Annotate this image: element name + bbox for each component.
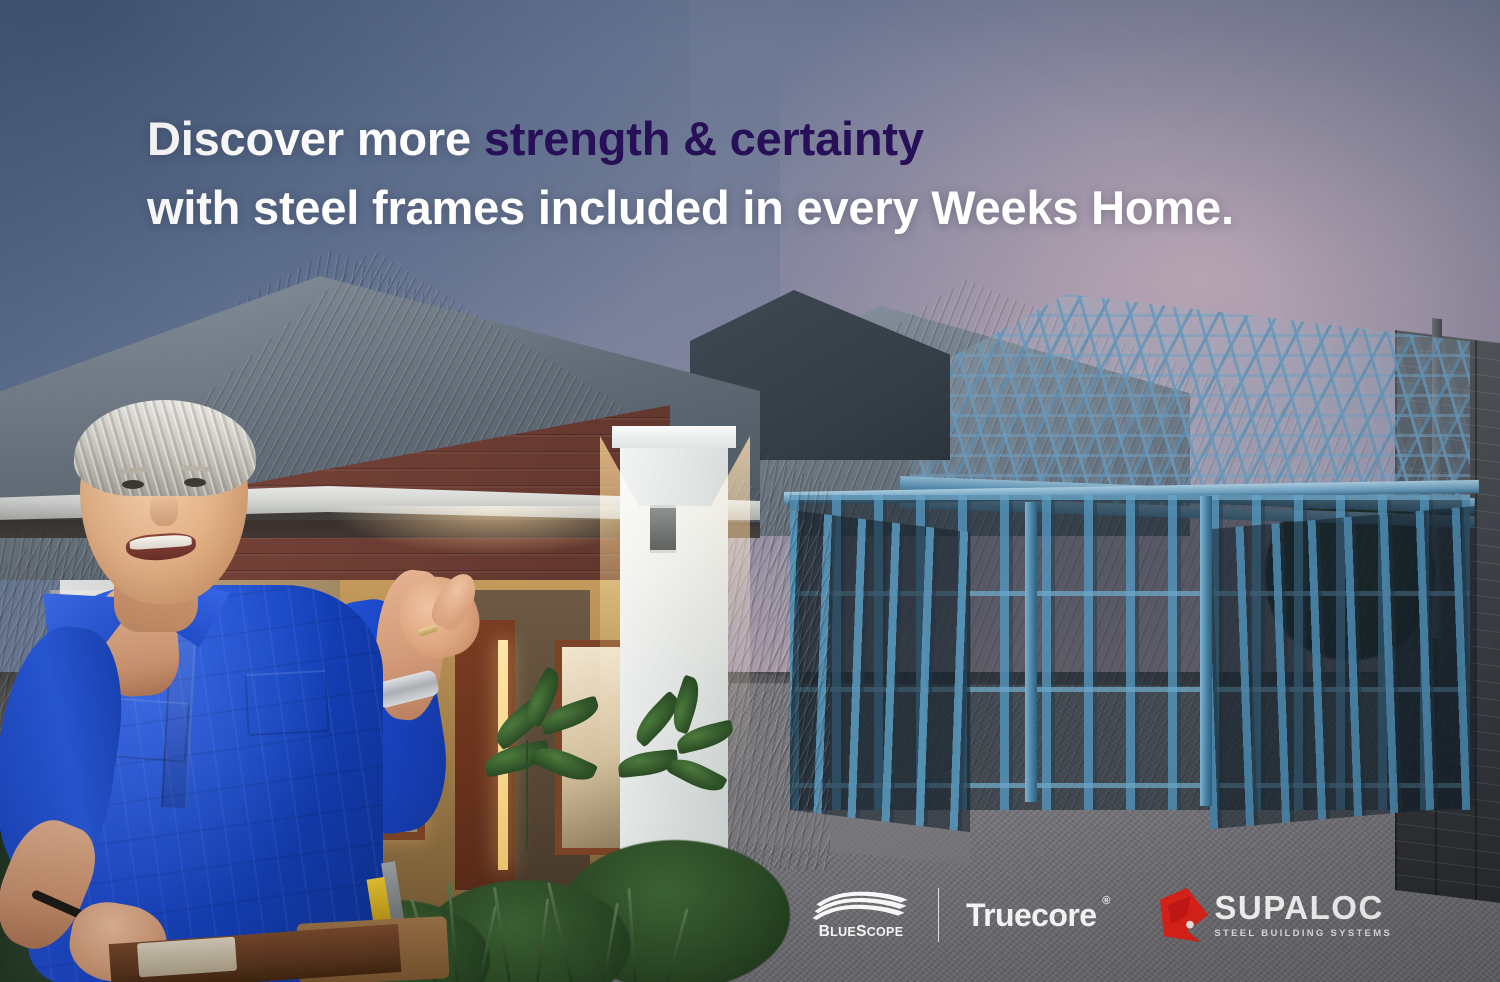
grass-blade (547, 882, 573, 982)
supaloc-wordmark: SUPALOC (1214, 891, 1392, 924)
supaloc-tagline: STEEL BUILDING SYSTEMS (1214, 929, 1392, 939)
supaloc-flag-icon (1158, 886, 1220, 944)
wall-light-main (650, 505, 676, 553)
bluescope-s: S (856, 923, 867, 940)
teeth (129, 534, 192, 550)
bluescope-logo: BLUESCOPE (808, 890, 914, 940)
hair-texture (74, 400, 256, 496)
supaloc-text-block: SUPALOC STEEL BUILDING SYSTEMS (1214, 891, 1392, 939)
steel-corner-post-2 (1200, 496, 1212, 806)
promo-banner: Discover more strength & certainty with … (0, 0, 1500, 982)
bluescope-cope: COPE (867, 925, 904, 939)
grass-blade (627, 888, 637, 982)
bluescope-lue: LUE (830, 925, 856, 939)
shirt-pocket-right (244, 670, 329, 736)
eye-left (122, 480, 144, 489)
partner-logo-bar: BLUESCOPE Truecore ® SUPALOC STEEL BUILD… (808, 880, 1392, 950)
bluescope-wordmark: BLUESCOPE (819, 924, 904, 940)
truecore-o-dot: o (1048, 899, 1067, 931)
headline-line-1-white: Discover more (147, 112, 484, 165)
truecore-post: re (1067, 899, 1096, 931)
steel-corner-post-1 (1025, 502, 1037, 802)
grass-blade (666, 908, 689, 982)
grass-blade (536, 898, 549, 982)
supaloc-logo: SUPALOC STEEL BUILDING SYSTEMS (1158, 886, 1392, 944)
pillar-cap (612, 426, 736, 448)
bluescope-waves-icon (812, 890, 910, 920)
nose (150, 492, 178, 526)
headline-line-1-accent: strength & certainty (484, 112, 924, 165)
belt-buckle (137, 937, 237, 978)
grass-blade (602, 903, 619, 982)
headline-line-1: Discover more strength & certainty (147, 104, 1397, 173)
leaf (666, 752, 728, 799)
bluescope-b: B (819, 923, 831, 940)
presenter-figure (18, 400, 488, 982)
headline-line-2: with steel frames included in every Week… (147, 173, 1397, 242)
headline: Discover more strength & certainty with … (147, 104, 1397, 242)
truecore-wordmark: Truecore (966, 899, 1096, 931)
registered-trademark-icon: ® (1102, 895, 1110, 907)
grass-blade (493, 887, 511, 982)
logo-divider (938, 888, 939, 942)
truecore-pre: Truec (966, 899, 1048, 931)
truecore-logo: Truecore ® (966, 899, 1110, 931)
eye-right (184, 478, 206, 487)
steel-wall-right (1210, 506, 1475, 829)
plant-stem (526, 740, 528, 850)
